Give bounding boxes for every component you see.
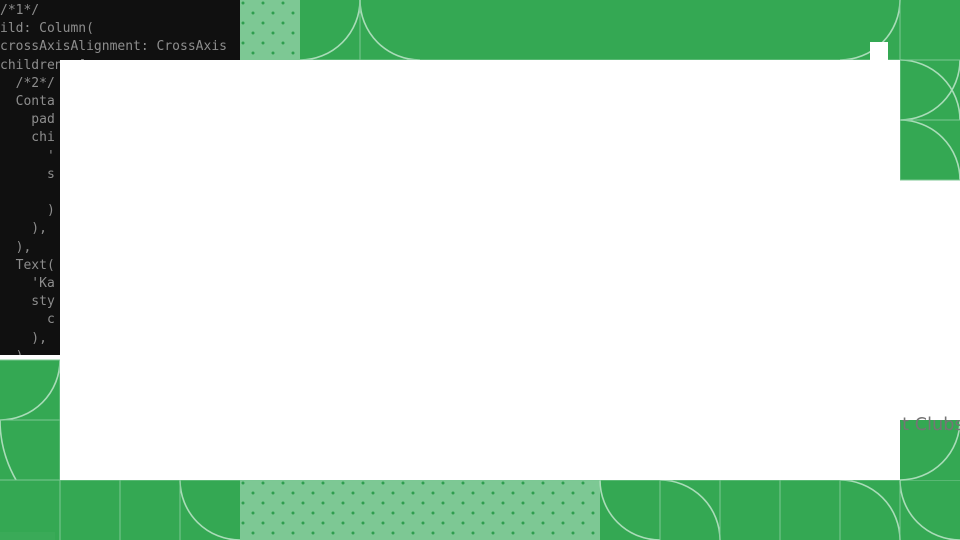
slide-canvas: /*1*/ ild: Column( crossAxisAlignment: C… <box>0 0 960 540</box>
code-pane-accent-bar <box>0 532 55 540</box>
content-card <box>60 60 900 480</box>
